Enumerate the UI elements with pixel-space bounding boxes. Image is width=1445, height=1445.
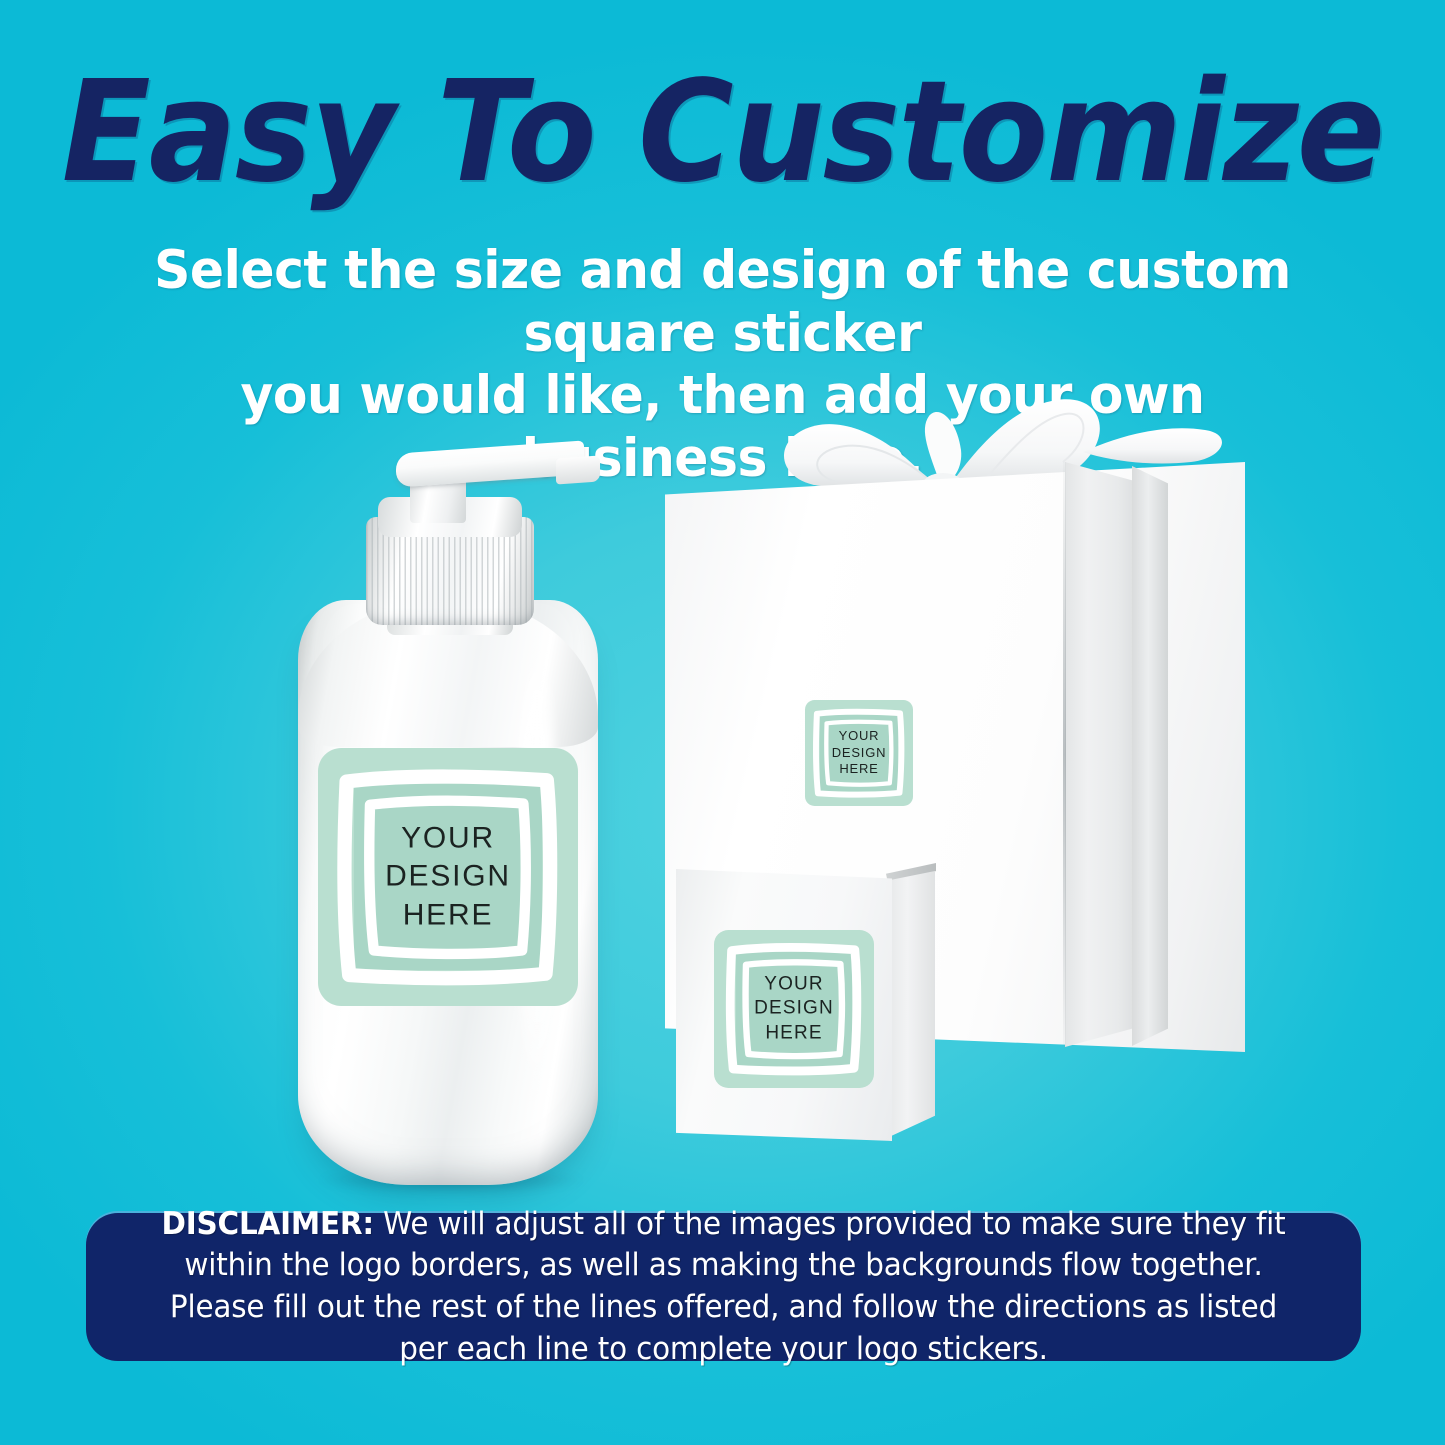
- gift-box-side-panel: [1065, 462, 1140, 1047]
- disclaimer-banner: DISCLAIMER: We will adjust all of the im…: [86, 1213, 1361, 1361]
- carton-box-side-panel: [889, 871, 935, 1137]
- sticker-line-3: HERE: [714, 1021, 874, 1045]
- sticker-line-2: DESIGN: [805, 745, 913, 762]
- sticker-line-2: DESIGN: [714, 997, 874, 1021]
- sticker-line-2: DESIGN: [318, 858, 578, 896]
- sticker-line-1: YOUR: [714, 973, 874, 997]
- sticker-line-1: YOUR: [318, 819, 578, 857]
- sticker-on-gift-box: YOUR DESIGN HERE: [805, 700, 913, 806]
- sticker-placeholder-text: YOUR DESIGN HERE: [318, 819, 578, 934]
- disclaimer-text: DISCLAIMER: We will adjust all of the im…: [118, 1204, 1329, 1370]
- sticker-placeholder-text: YOUR DESIGN HERE: [805, 728, 913, 778]
- disclaimer-label: DISCLAIMER:: [161, 1206, 374, 1242]
- page-title: Easy To Customize: [51, 62, 1395, 205]
- sticker-line-3: HERE: [805, 761, 913, 778]
- gift-box-back-panel: [1132, 466, 1168, 1046]
- sticker-placeholder-text: YOUR DESIGN HERE: [714, 973, 874, 1046]
- sticker-on-carton-box: YOUR DESIGN HERE: [714, 930, 874, 1088]
- sticker-line-3: HERE: [318, 896, 578, 934]
- subtitle-line-1: Select the size and design of the custom…: [126, 240, 1318, 365]
- sticker-on-pump-bottle: YOUR DESIGN HERE: [318, 748, 578, 1006]
- sticker-line-1: YOUR: [805, 728, 913, 745]
- pump-nozzle-tip: [556, 455, 600, 484]
- gift-box-edge: [1063, 462, 1066, 1048]
- promo-graphic: Easy To Customize Select the size and de…: [0, 0, 1445, 1445]
